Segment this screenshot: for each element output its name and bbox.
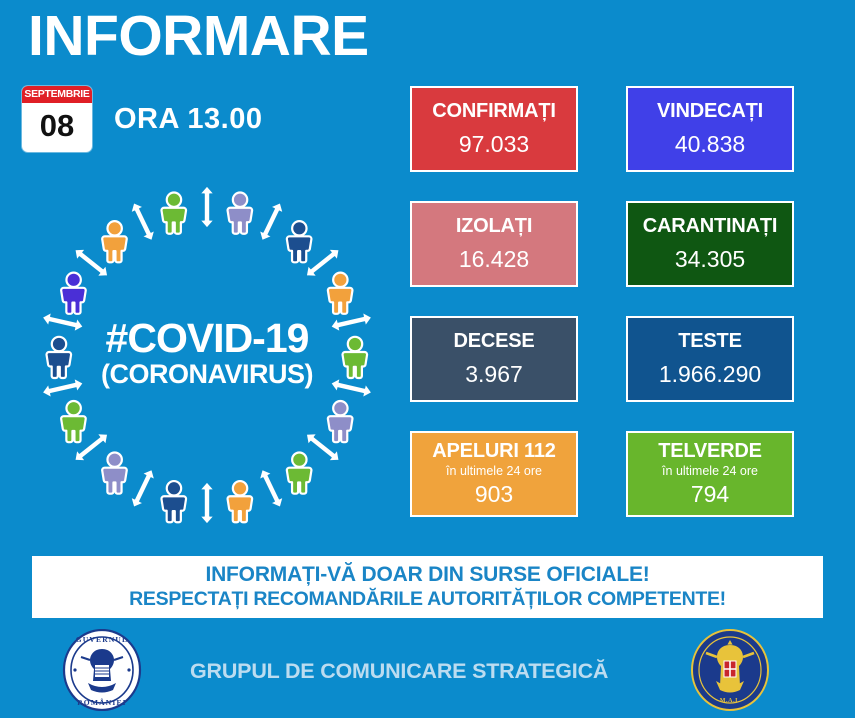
- stat-card-confirmati: CONFIRMAȚI 97.033: [410, 86, 578, 172]
- stat-card-label: CONFIRMAȚI: [432, 100, 556, 123]
- card-row-4: APELURI 112 în ultimele 24 ore 903 TELVE…: [410, 431, 822, 517]
- stat-card-value: 794: [691, 481, 729, 509]
- stat-card-label: TELVERDE: [658, 440, 762, 463]
- stat-card-label: CARANTINAȚI: [643, 215, 777, 238]
- stat-card-value: 16.428: [459, 246, 529, 274]
- stat-card-izolati: IZOLAȚI 16.428: [410, 201, 578, 287]
- stat-card-value: 40.838: [675, 131, 745, 159]
- banner-line-1: INFORMAȚI-VĂ DOAR DIN SURSE OFICIALE!: [205, 562, 649, 587]
- banner-line-2: RESPECTAȚI RECOMANDĂRILE AUTORITĂȚILOR C…: [129, 587, 726, 611]
- stat-card-vindecati: VINDECAȚI 40.838: [626, 86, 794, 172]
- calendar-month-label: SEPTEMBRIE: [22, 86, 92, 103]
- date-time-row: SEPTEMBRIE 08 ORA 13.00: [22, 86, 263, 152]
- statistics-cards: CONFIRMAȚI 97.033 VINDECAȚI 40.838 IZOLA…: [410, 86, 822, 517]
- card-row-3: DECESE 3.967 TESTE 1.966.290: [410, 316, 822, 402]
- stat-card-teste: TESTE 1.966.290: [626, 316, 794, 402]
- stat-card-decese: DECESE 3.967: [410, 316, 578, 402]
- stat-card-carantinati: CARANTINAȚI 34.305: [626, 201, 794, 287]
- calendar-day-label: 08: [22, 103, 92, 153]
- footer-title: GRUPUL DE COMUNICARE STRATEGICĂ: [190, 659, 608, 684]
- stat-card-label: APELURI 112: [432, 440, 555, 463]
- stat-card-sublabel: în ultimele 24 ore: [662, 464, 758, 479]
- guvernul-romaniei-seal-icon: GUVERNUL ROMÂNIEI: [62, 629, 142, 711]
- stat-card-label: IZOLAȚI: [456, 215, 532, 238]
- people-circle-icon: [12, 168, 402, 542]
- stat-card-label: TESTE: [678, 330, 741, 353]
- stat-card-sublabel: în ultimele 24 ore: [446, 464, 542, 479]
- svg-text:M.A.I.: M.A.I.: [720, 698, 740, 704]
- row-gap: [410, 287, 822, 316]
- official-sources-banner: INFORMAȚI-VĂ DOAR DIN SURSE OFICIALE! RE…: [32, 556, 823, 618]
- calendar-icon: SEPTEMBRIE 08: [22, 86, 92, 152]
- card-row-2: IZOLAȚI 16.428 CARANTINAȚI 34.305: [410, 201, 822, 287]
- departamentul-situatii-urgenta-seal-icon: M.A.I.: [690, 629, 770, 711]
- stat-card-value: 34.305: [675, 246, 745, 274]
- hour-label: ORA 13.00: [114, 103, 263, 136]
- stat-card-label: DECESE: [453, 330, 534, 353]
- svg-text:ROMÂNIEI: ROMÂNIEI: [77, 697, 127, 707]
- stat-card-value: 3.967: [465, 361, 523, 389]
- stat-card-apeluri-112: APELURI 112 în ultimele 24 ore 903: [410, 431, 578, 517]
- footer: GUVERNUL ROMÂNIEI GRUPUL DE COMUNICARE S…: [0, 622, 855, 718]
- stat-card-value: 1.966.290: [659, 361, 761, 389]
- stat-card-value: 903: [475, 481, 513, 509]
- stat-card-telverde: TELVERDE în ultimele 24 ore 794: [626, 431, 794, 517]
- row-gap: [410, 172, 822, 201]
- svg-text:GUVERNUL: GUVERNUL: [76, 635, 129, 644]
- stat-card-value: 97.033: [459, 131, 529, 159]
- covid-people-circle-graphic: #COVID-19 (CORONAVIRUS): [12, 168, 402, 542]
- card-row-1: CONFIRMAȚI 97.033 VINDECAȚI 40.838: [410, 86, 822, 172]
- row-gap: [410, 402, 822, 431]
- page-title: INFORMARE: [28, 8, 369, 65]
- stat-card-label: VINDECAȚI: [657, 100, 763, 123]
